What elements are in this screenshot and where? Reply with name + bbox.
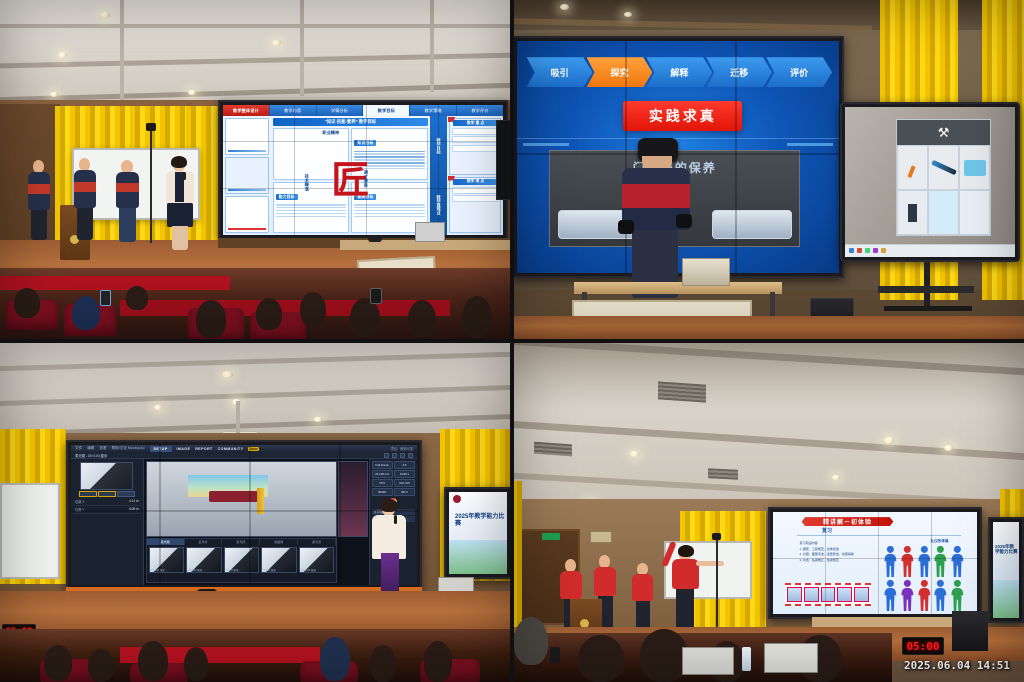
center-label-1: 技术精湛 bbox=[304, 174, 310, 191]
ceiling-downlight bbox=[624, 12, 632, 17]
presenter-speaker bbox=[166, 158, 194, 250]
laptop[interactable] bbox=[764, 643, 818, 673]
tool-panel: ⚒ bbox=[896, 119, 991, 236]
stage-floor bbox=[512, 316, 1024, 341]
tools-icon: ⚒ bbox=[897, 120, 990, 145]
ceiling-vent bbox=[534, 442, 572, 457]
water-bottle bbox=[742, 647, 751, 671]
ceiling-downlight bbox=[630, 451, 639, 457]
whiteboard bbox=[0, 483, 60, 579]
projector-mount bbox=[236, 401, 240, 433]
side-monitor: 2025年教学能力比赛 bbox=[988, 517, 1024, 623]
wall-sign bbox=[590, 531, 612, 543]
smartphone-recording[interactable] bbox=[370, 288, 382, 304]
event-banner-title: 2025年教学能力比赛 bbox=[455, 514, 505, 528]
led-video-wall: 教学整体设计 教学内容 学情分析 教学目标 教学策略 教学评价 bbox=[218, 100, 508, 240]
presenter-uniform-2 bbox=[74, 158, 96, 240]
pointing-arm bbox=[696, 561, 724, 566]
ceiling-downlight bbox=[188, 90, 196, 95]
presenter-uniform-1 bbox=[28, 160, 50, 240]
panel-group-presentation: 精讲解－初体验 复习 复习巩固内容 1. 服装：工装规范、合体舒适 2. 仪容：… bbox=[512, 341, 1024, 682]
banner-skyline bbox=[993, 580, 1019, 618]
ceiling-downlight bbox=[50, 92, 58, 97]
vr-controller-right[interactable] bbox=[676, 214, 692, 228]
collage-divider-horizontal bbox=[0, 339, 1024, 343]
ceiling-vent bbox=[658, 381, 706, 402]
keyboard-tray bbox=[878, 286, 974, 293]
ceiling-downlight bbox=[100, 12, 110, 18]
microphone-stand-head bbox=[712, 533, 721, 540]
tool-tile-empty[interactable] bbox=[959, 190, 990, 235]
photo-timestamp: 2025.06.04 14:51 bbox=[904, 659, 1010, 672]
audience-table bbox=[0, 276, 230, 290]
microphone-stand bbox=[716, 537, 718, 635]
microphone-stand bbox=[150, 128, 152, 243]
microphone-icon bbox=[394, 515, 397, 524]
tool-tile-cloth[interactable] bbox=[959, 145, 990, 190]
demo-table bbox=[574, 282, 782, 294]
table-leg bbox=[770, 292, 775, 316]
banner-logo bbox=[453, 495, 461, 503]
vr-controller-left[interactable] bbox=[618, 220, 634, 234]
tool-tile-pad[interactable] bbox=[928, 190, 959, 235]
ceiling-downlight bbox=[154, 405, 162, 410]
ceiling-downlight bbox=[272, 40, 281, 46]
photo-collage: 教学整体设计 教学内容 学情分析 教学目标 教学策略 教学评价 bbox=[0, 0, 1024, 682]
ceiling-downlight bbox=[560, 4, 569, 10]
ceiling-downlight bbox=[58, 52, 67, 58]
panel-vr-demo: 吸引 探究 解释 迁移 评价 实践求真 门系统的保养 bbox=[512, 0, 1024, 341]
tool-tile-brush[interactable] bbox=[897, 145, 928, 190]
tool-tile-knife[interactable] bbox=[928, 145, 959, 190]
ceiling-vent bbox=[708, 468, 738, 480]
countdown-timer: 05:00 bbox=[902, 637, 944, 655]
ceiling-downlight bbox=[944, 445, 953, 451]
monitor-stand-base bbox=[884, 306, 972, 311]
ceiling-downlight bbox=[884, 437, 894, 444]
panel-lighting-software: 文件 编辑 查看 帮助/汉化 Mockup3d SETUP IMAGE REPO… bbox=[0, 341, 512, 682]
vr-controller bbox=[368, 236, 382, 242]
panel-lecture-hall: 教学整体设计 教学内容 学情分析 教学目标 教学策略 教学评价 bbox=[0, 0, 512, 341]
center-label-0: 职业精神 bbox=[322, 130, 339, 136]
led-video-wall: 文件 编辑 查看 帮助/汉化 Mockup3d SETUP IMAGE REPO… bbox=[66, 440, 422, 590]
ceiling-downlight bbox=[314, 417, 322, 422]
smartphone-recording[interactable] bbox=[100, 290, 111, 306]
event-banner-title: 2025年教学能力比赛 bbox=[995, 544, 1018, 554]
presenter-uniform-3 bbox=[116, 160, 139, 242]
ceiling-downlight bbox=[832, 475, 840, 480]
laptop bbox=[415, 222, 445, 242]
side-monitor: 2025年教学能力比赛 bbox=[444, 487, 512, 579]
microphone-icon bbox=[183, 172, 186, 180]
presenter-pointing bbox=[670, 541, 700, 637]
banner-skyline bbox=[449, 540, 507, 574]
monitor-taskbar[interactable] bbox=[845, 244, 1015, 258]
computer-tower bbox=[952, 611, 988, 651]
laptop[interactable] bbox=[682, 258, 730, 286]
smartphone-recording[interactable] bbox=[550, 647, 560, 663]
center-label-2: 通才兼备 bbox=[363, 170, 369, 187]
ceiling-downlight bbox=[222, 371, 233, 378]
microphone-stand-head bbox=[146, 123, 156, 131]
touch-screen-monitor[interactable]: ⚒ bbox=[840, 102, 1020, 262]
presenter-red-polo-3 bbox=[632, 563, 653, 631]
laptop[interactable] bbox=[682, 647, 734, 675]
tool-tile-spray[interactable] bbox=[897, 190, 928, 235]
exit-sign bbox=[542, 533, 560, 540]
led-video-wall: 精讲解－初体验 复习 复习巩固内容 1. 服装：工装规范、合体舒适 2. 仪容：… bbox=[768, 507, 982, 619]
